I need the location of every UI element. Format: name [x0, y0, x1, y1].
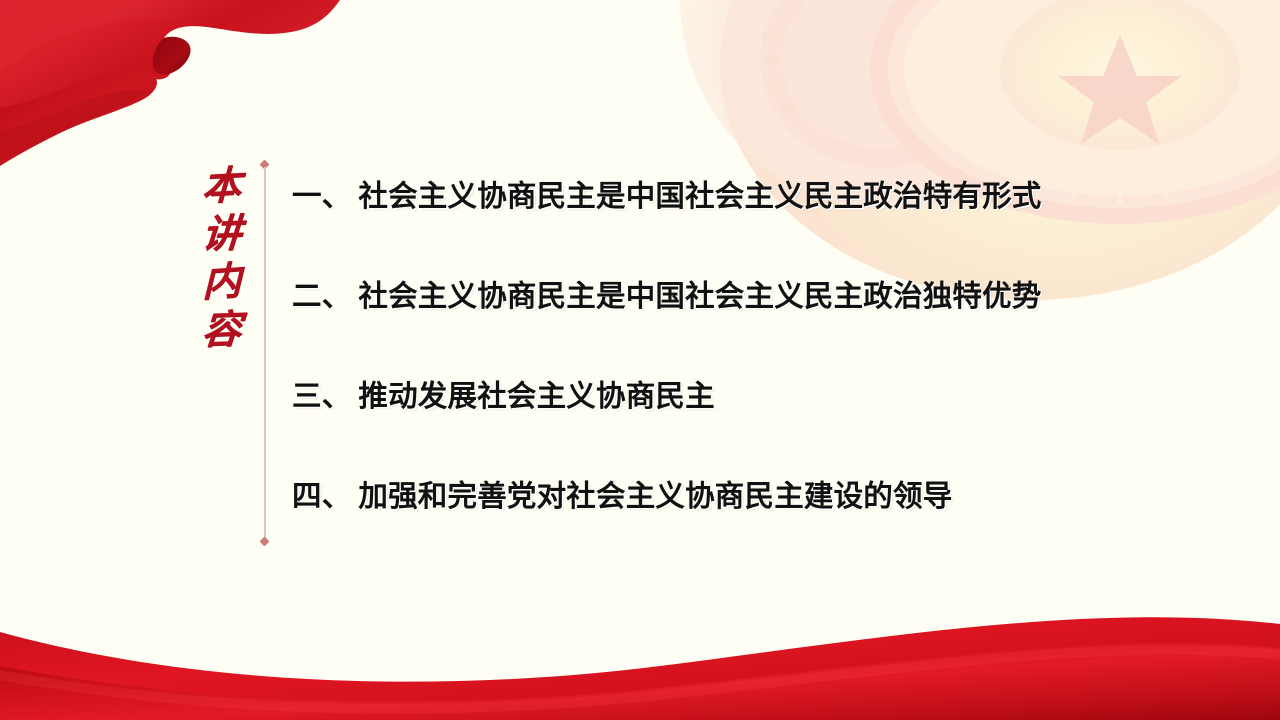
outline-item-number: 一、 [292, 178, 351, 214]
divider-rule [264, 167, 266, 539]
outline-item-label: 社会主义协商民主是中国社会主义民主政治独特优势 [358, 278, 1041, 314]
section-title-char-1: 本 [202, 161, 243, 211]
outline-item-number: 二、 [292, 278, 351, 314]
section-title-vertical: 本 讲 内 容 [199, 162, 245, 354]
outline-item-label: 推动发展社会主义协商民主 [358, 378, 714, 414]
outline-item-3[interactable]: 三、 推动发展社会主义协商民主 [292, 378, 1232, 478]
outline-item-label: 社会主义协商民主是中国社会主义民主政治特有形式 [358, 178, 1041, 214]
outline-list: 一、 社会主义协商民主是中国社会主义民主政治特有形式 二、 社会主义协商民主是中… [292, 178, 1232, 578]
outline-item-2[interactable]: 二、 社会主义协商民主是中国社会主义民主政治独特优势 [292, 278, 1232, 378]
vertical-divider [263, 161, 266, 545]
section-title-char-2: 讲 [201, 209, 244, 258]
outline-item-label: 加强和完善党对社会主义协商民主建设的领导 [358, 478, 952, 514]
outline-item-number: 三、 [292, 378, 351, 414]
slide-canvas: 本 讲 内 容 一、 社会主义协商民主是中国社会主义民主政治特有形式 二、 社会… [0, 0, 1280, 720]
section-title-char-4: 容 [200, 305, 243, 354]
divider-diamond-bottom-icon [260, 537, 270, 547]
outline-item-4[interactable]: 四、 加强和完善党对社会主义协商民主建设的领导 [292, 478, 1232, 578]
outline-item-number: 四、 [292, 478, 351, 514]
slide-content: 本 讲 内 容 一、 社会主义协商民主是中国社会主义民主政治特有形式 二、 社会… [0, 0, 1280, 720]
outline-item-1[interactable]: 一、 社会主义协商民主是中国社会主义民主政治特有形式 [292, 178, 1232, 278]
section-title-char-3: 内 [202, 257, 241, 308]
